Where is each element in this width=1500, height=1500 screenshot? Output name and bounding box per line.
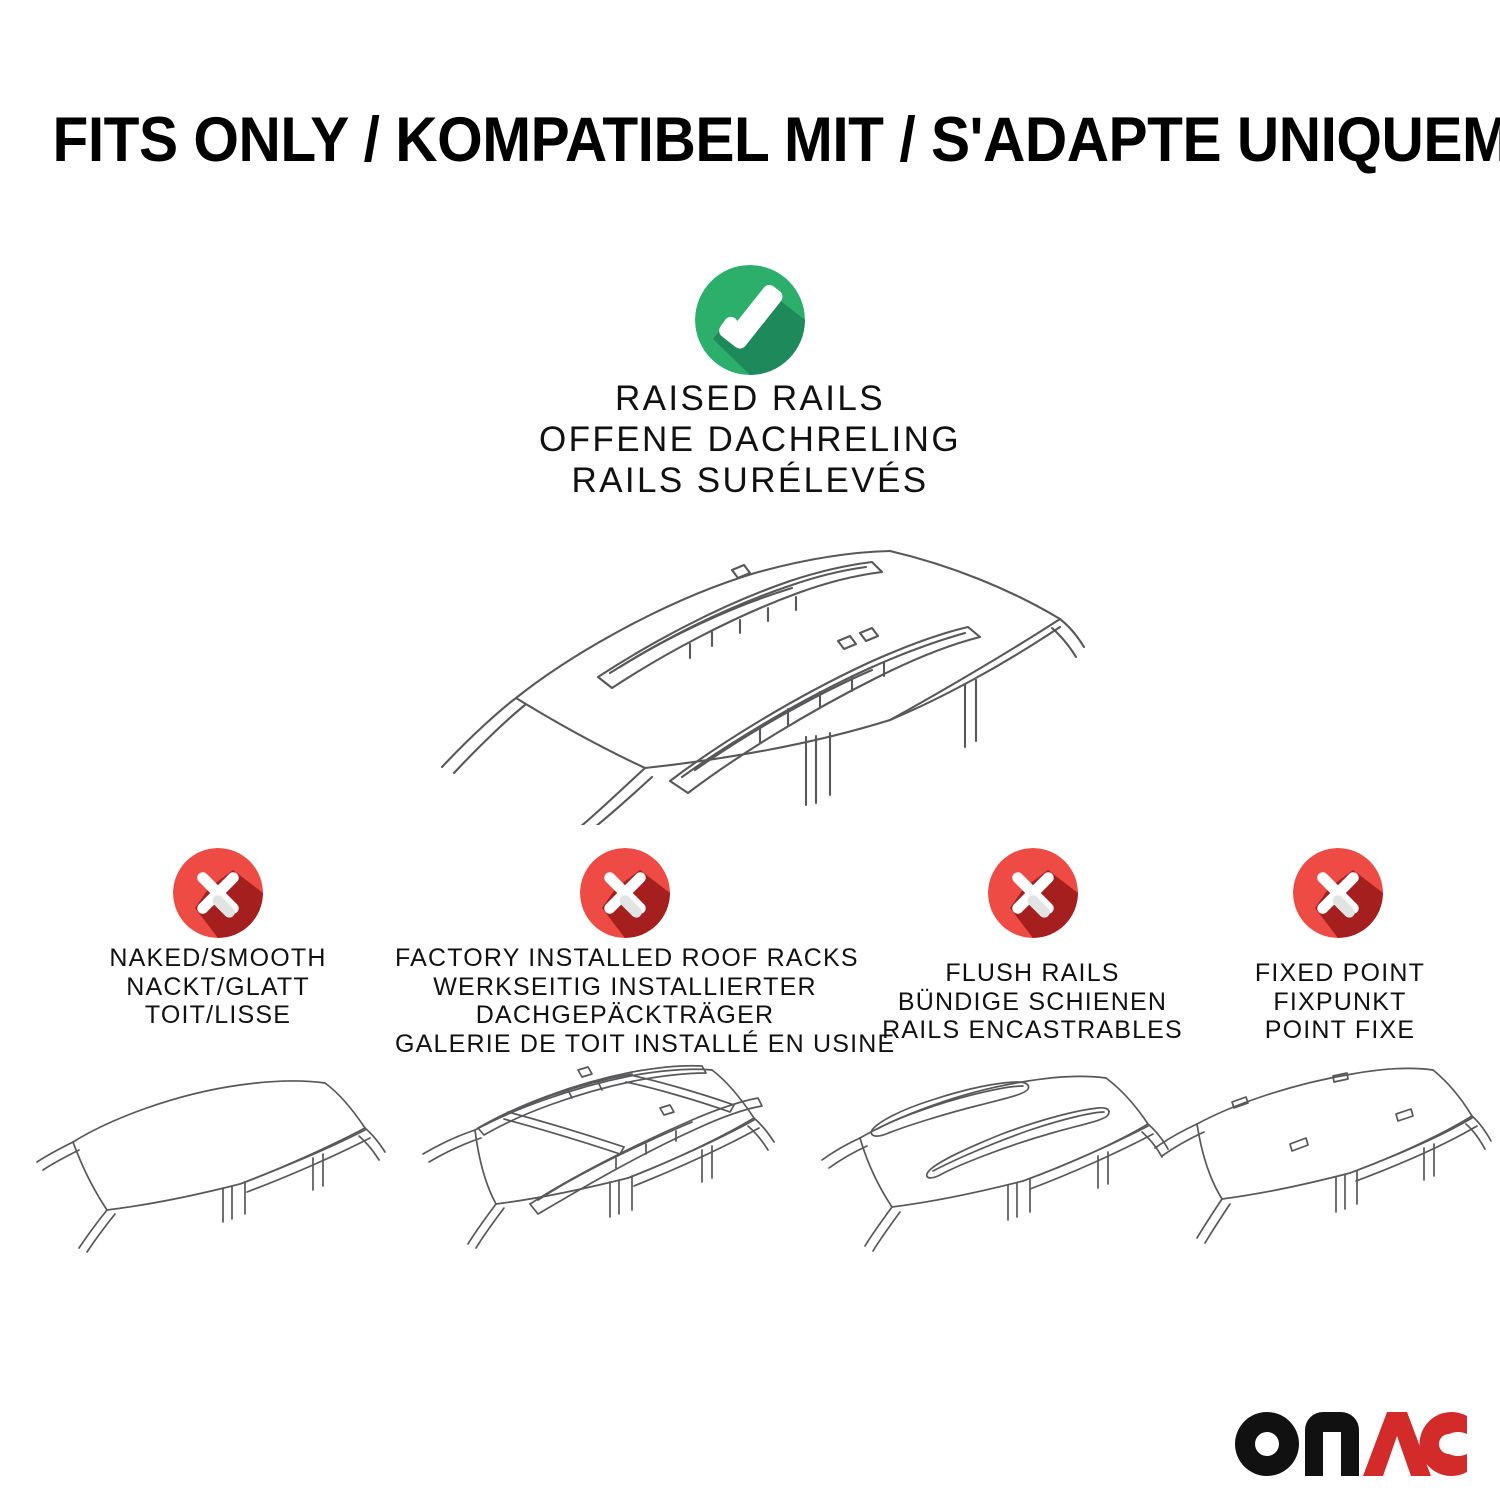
check-circle-svg [695,265,805,375]
x-circle-icon-flush-rails [988,848,1078,938]
car-roof-fixed-point-illustration [1150,1062,1495,1292]
caption-flush-rails-line-1: FLUSH RAILS [845,959,1220,988]
caption-fixed-point: FIXED POINT FIXPUNKT POINT FIXE [1190,959,1490,1045]
caption-naked-smooth-line-3: TOIT/LISSE [28,1001,408,1030]
car-roof-flush-rails-illustration [820,1062,1195,1292]
caption-flush-rails: FLUSH RAILS BÜNDIGE SCHIENEN RAILS ENCAS… [845,959,1220,1045]
compatible-caption-line-1: RAISED RAILS [300,378,1200,419]
naked-smooth-svg [35,1062,410,1292]
fixed-point-svg [1150,1062,1495,1292]
x-circle-icon-factory-racks [580,848,670,938]
caption-factory-racks-line-2: WERKSEITIG INSTALLIERTER [395,973,855,1002]
caption-flush-rails-line-2: BÜNDIGE SCHIENEN [845,988,1220,1017]
car-roof-naked-smooth-illustration [35,1062,410,1292]
caption-fixed-point-line-3: POINT FIXE [1190,1016,1490,1045]
caption-factory-racks-line-1: FACTORY INSTALLED ROOF RACKS [395,944,855,973]
caption-factory-racks-line-3: DACHGEPÄCKTRÄGER [395,1001,855,1030]
compatible-caption-line-2: OFFENE DACHRELING [300,419,1200,460]
page-title: FITS ONLY / KOMPATIBEL MIT / S'ADAPTE UN… [53,104,1448,176]
caption-factory-racks: FACTORY INSTALLED ROOF RACKS WERKSEITIG … [395,944,855,1058]
caption-naked-smooth-line-1: NAKED/SMOOTH [28,944,408,973]
caption-factory-racks-line-4: GALERIE DE TOIT INSTALLÉ EN USINE [395,1030,855,1059]
omac-logo-svg [1235,1412,1467,1476]
raised-rails-svg [420,515,1090,825]
compatible-caption-line-3: RAILS SURÉLEVÉS [300,460,1200,501]
check-circle-icon [695,265,805,375]
caption-naked-smooth: NAKED/SMOOTH NACKT/GLATT TOIT/LISSE [28,944,408,1030]
compatible-caption: RAISED RAILS OFFENE DACHRELING RAILS SUR… [300,378,1200,501]
x-circle-svg [173,848,263,938]
x-circle-svg [1293,848,1383,938]
x-circle-svg [988,848,1078,938]
factory-racks-svg [420,1062,795,1292]
x-circle-icon-naked-smooth [173,848,263,938]
flush-rails-svg [820,1062,1195,1292]
x-circle-icon-fixed-point [1293,848,1383,938]
caption-fixed-point-line-1: FIXED POINT [1190,959,1490,988]
car-roof-raised-rails-illustration [420,515,1090,825]
caption-naked-smooth-line-2: NACKT/GLATT [28,973,408,1002]
x-circle-svg [580,848,670,938]
omac-logo [1235,1412,1467,1476]
caption-fixed-point-line-2: FIXPUNKT [1190,988,1490,1017]
caption-flush-rails-line-3: RAILS ENCASTRABLES [845,1016,1220,1045]
car-roof-factory-racks-illustration [420,1062,795,1292]
